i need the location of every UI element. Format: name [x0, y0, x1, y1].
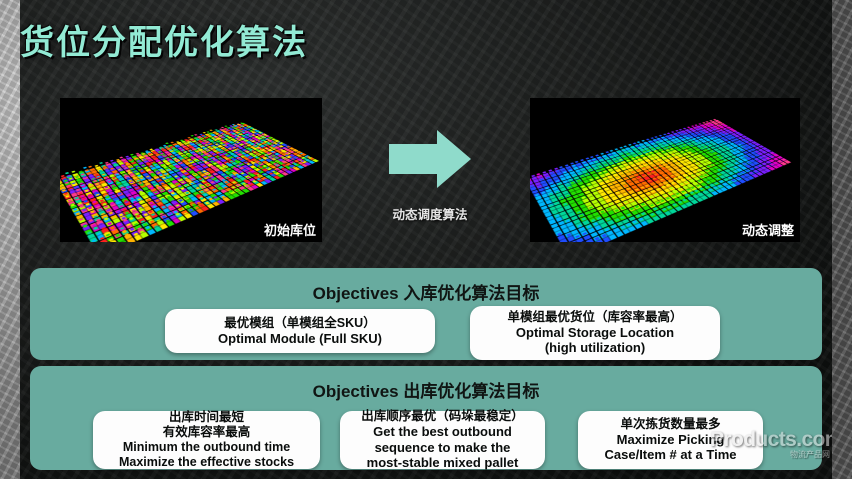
- page-title: 货位分配优化算法: [20, 18, 540, 68]
- card-line-en: most-stable mixed pallet: [367, 455, 519, 470]
- card-inbound-2: 单模组最优货位（库容率最高）Optimal Storage Location(h…: [470, 306, 720, 360]
- heatmap-cell: [648, 168, 655, 172]
- heatmap-cell: [104, 169, 111, 173]
- card-line-en: Minimum the outbound time: [123, 440, 290, 455]
- heatmap-cell: [739, 179, 746, 183]
- card-outbound-2: 出库顺序最优（码垛最稳定）Get the best outboundsequen…: [340, 411, 545, 469]
- card-line-en: Case/Item # at a Time: [605, 447, 737, 462]
- card-line-en: Get the best outbound: [373, 424, 512, 439]
- heatmap-cell: [229, 170, 236, 174]
- right-arrow-icon: [387, 128, 473, 190]
- card-line-cn: 出库时间最短: [169, 410, 244, 425]
- heatmap-cell: [195, 175, 202, 179]
- card-line-en: (high utilization): [545, 340, 645, 355]
- card-inbound-1: 最优模组（单模组全SKU）Optimal Module (Full SKU): [165, 309, 435, 353]
- heatmap-cell: [615, 231, 624, 237]
- panel-inbound-objectives: Objectives 入库优化算法目标 最优模组（单模组全SKU）Optimal…: [30, 268, 822, 360]
- heatmap-cell: [301, 160, 308, 163]
- card-line-en: Maximize Picking: [617, 432, 725, 447]
- heatmap-cell: [663, 169, 670, 173]
- heatmap-cell: [312, 159, 319, 162]
- card-outbound-1: 出库时间最短有效库容率最高Minimum the outbound timeMa…: [93, 411, 320, 469]
- card-line-en: Optimal Module (Full SKU): [218, 331, 382, 346]
- heatmap-cell: [204, 183, 211, 187]
- card-outbound-3: 单次拣货数量最多Maximize PickingCase/Item # at a…: [578, 411, 763, 469]
- heatmap-cell: [730, 183, 738, 187]
- heatmap-cell: [600, 167, 607, 171]
- heatmap-adjusted-label: 动态调整: [742, 220, 794, 239]
- card-line-en: Maximize the effective stocks: [119, 455, 294, 470]
- card-line-cn: 有效库容率最高: [163, 425, 251, 440]
- heatmap-cell: [721, 187, 729, 191]
- heatmap-cell: [776, 164, 783, 168]
- heatmap-cell: [208, 160, 215, 163]
- card-line-cn: 出库顺序最优（码垛最稳定）: [361, 409, 524, 424]
- slide-root: 货位分配优化算法 初始库位 动态调度算法 动态调整 Objectives 入库优…: [0, 0, 852, 479]
- heatmap-cell: [153, 169, 160, 173]
- heatmap-cell: [653, 166, 660, 170]
- card-line-en: sequence to make the: [375, 440, 511, 455]
- heatmap-cell: [170, 167, 177, 171]
- heatmap-cell: [583, 210, 591, 215]
- heatmap-cell: [634, 223, 642, 229]
- card-line-cn: 单次拣货数量最多: [620, 417, 720, 432]
- card-line-cn: 单模组最优货位（库容率最高）: [507, 310, 682, 325]
- transform-arrow-group: 动态调度算法: [375, 122, 485, 242]
- slide-canvas: 货位分配优化算法 初始库位 动态调度算法 动态调整 Objectives 入库优…: [20, 0, 832, 479]
- panel-inbound-title: Objectives 入库优化算法目标: [30, 279, 822, 304]
- heatmap-cell: [756, 172, 763, 176]
- heatmap-cell: [623, 170, 630, 174]
- heatmap-initial: 初始库位: [60, 98, 322, 242]
- heatmap-cell: [646, 218, 654, 224]
- heatmap-cell: [158, 168, 165, 172]
- card-line-en: Optimal Storage Location: [516, 325, 674, 340]
- card-line-cn: 最优模组（单模组全SKU）: [224, 316, 375, 331]
- panel-outbound-title: Objectives 出库优化算法目标: [30, 377, 822, 402]
- heatmap-adjusted: 动态调整: [530, 98, 800, 242]
- arrow-label: 动态调度算法: [375, 204, 485, 223]
- heatmap-cell: [187, 164, 194, 167]
- panel-outbound-objectives: Objectives 出库优化算法目标 出库时间最短有效库容率最高Minimum…: [30, 366, 822, 470]
- visualization-band: 初始库位 动态调度算法 动态调整: [20, 84, 832, 262]
- heatmap-initial-label: 初始库位: [264, 220, 316, 239]
- heatmap-cell: [195, 165, 202, 168]
- heatmap-cell: [160, 164, 167, 167]
- heatmap-cell: [155, 165, 162, 169]
